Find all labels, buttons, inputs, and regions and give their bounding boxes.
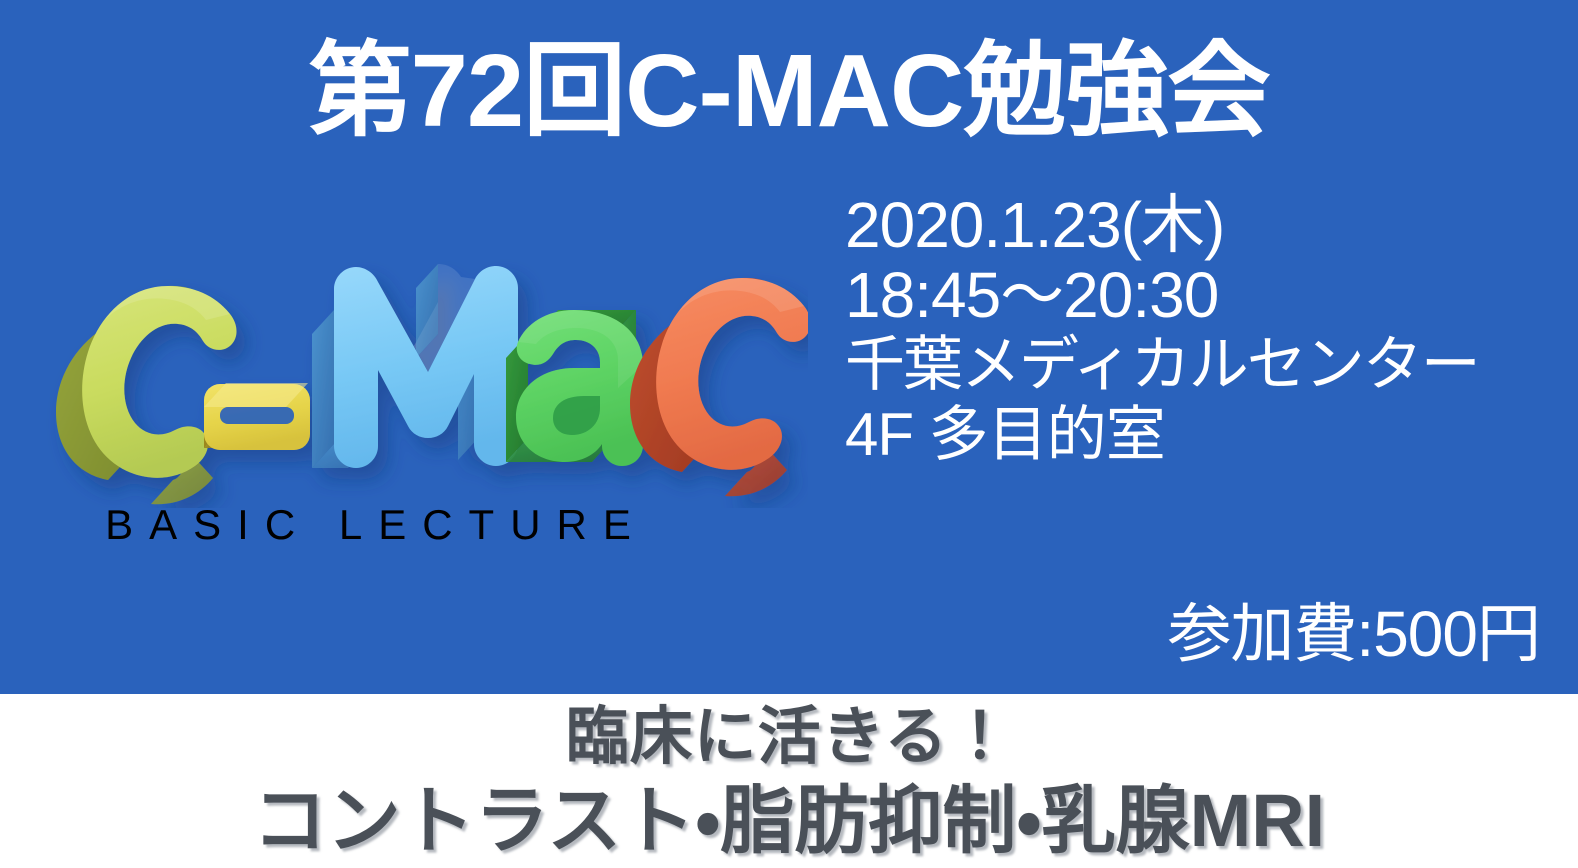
- poster-root: 第72回C-MAC勉強会 2020.1.23(木) 18:45～20:30 千葉…: [0, 0, 1578, 868]
- footer-tagline: 臨床に活きる！: [0, 700, 1578, 774]
- logo-subtitle: BASIC LECTURE: [18, 500, 718, 550]
- logo-letter-hyphen: [204, 383, 310, 450]
- footer-topics: コントラスト・脂肪抑制・乳腺MRI: [0, 778, 1578, 864]
- event-date: 2020.1.23(木): [845, 190, 1545, 260]
- page-title: 第72回C-MAC勉強会: [0, 34, 1578, 147]
- event-time: 18:45～20:30: [845, 260, 1545, 330]
- event-details-block: 2020.1.23(木) 18:45～20:30 千葉メディカルセンター 4F …: [845, 190, 1545, 470]
- logo-letter-c2: [630, 278, 808, 496]
- footer-section: 臨床に活きる！ コントラスト・脂肪抑制・乳腺MRI: [0, 694, 1578, 868]
- cmac-logo-wordmark-icon: [18, 248, 808, 508]
- event-venue: 千葉メディカルセンター: [845, 330, 1545, 400]
- cmac-logo: BASIC LECTURE: [18, 248, 808, 568]
- event-fee: 参加費:500円: [845, 597, 1540, 671]
- event-room: 4F 多目的室: [845, 400, 1545, 470]
- logo-letter-a: [506, 310, 643, 466]
- logo-letter-m: [312, 264, 518, 468]
